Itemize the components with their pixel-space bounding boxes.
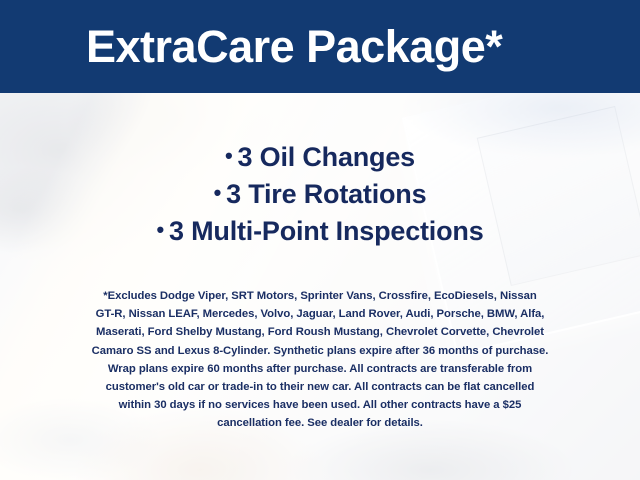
benefit-label: 3 Tire Rotations — [226, 179, 426, 209]
disclaimer-line: within 30 days if no services have been … — [26, 396, 614, 414]
bullet-icon: • — [225, 143, 233, 168]
disclaimer-line: customer's old car or trade-in to their … — [26, 378, 614, 396]
list-item: •3 Multi-Point Inspections — [0, 212, 640, 249]
disclaimer-line: Camaro SS and Lexus 8-Cylinder. Syntheti… — [26, 342, 614, 360]
benefit-label: 3 Multi-Point Inspections — [169, 216, 484, 246]
list-item: •3 Tire Rotations — [0, 175, 640, 212]
benefits-list: •3 Oil Changes •3 Tire Rotations •3 Mult… — [0, 138, 640, 249]
benefit-label: 3 Oil Changes — [238, 142, 415, 172]
bullet-icon: • — [214, 180, 222, 205]
page-title: ExtraCare Package* — [0, 24, 502, 69]
list-item: •3 Oil Changes — [0, 138, 640, 175]
disclaimer-line: *Excludes Dodge Viper, SRT Motors, Sprin… — [26, 287, 614, 305]
disclaimer-line: cancellation fee. See dealer for details… — [26, 414, 614, 432]
disclaimer-text: *Excludes Dodge Viper, SRT Motors, Sprin… — [26, 287, 614, 433]
extracare-package-ad: ExtraCare Package* •3 Oil Changes •3 Tir… — [0, 0, 640, 480]
bullet-icon: • — [156, 217, 164, 242]
disclaimer-line: GT-R, Nissan LEAF, Mercedes, Volvo, Jagu… — [26, 305, 614, 323]
header-banner: ExtraCare Package* — [0, 0, 640, 93]
disclaimer-line: Maserati, Ford Shelby Mustang, Ford Rous… — [26, 323, 614, 341]
disclaimer-line: Wrap plans expire 60 months after purcha… — [26, 360, 614, 378]
